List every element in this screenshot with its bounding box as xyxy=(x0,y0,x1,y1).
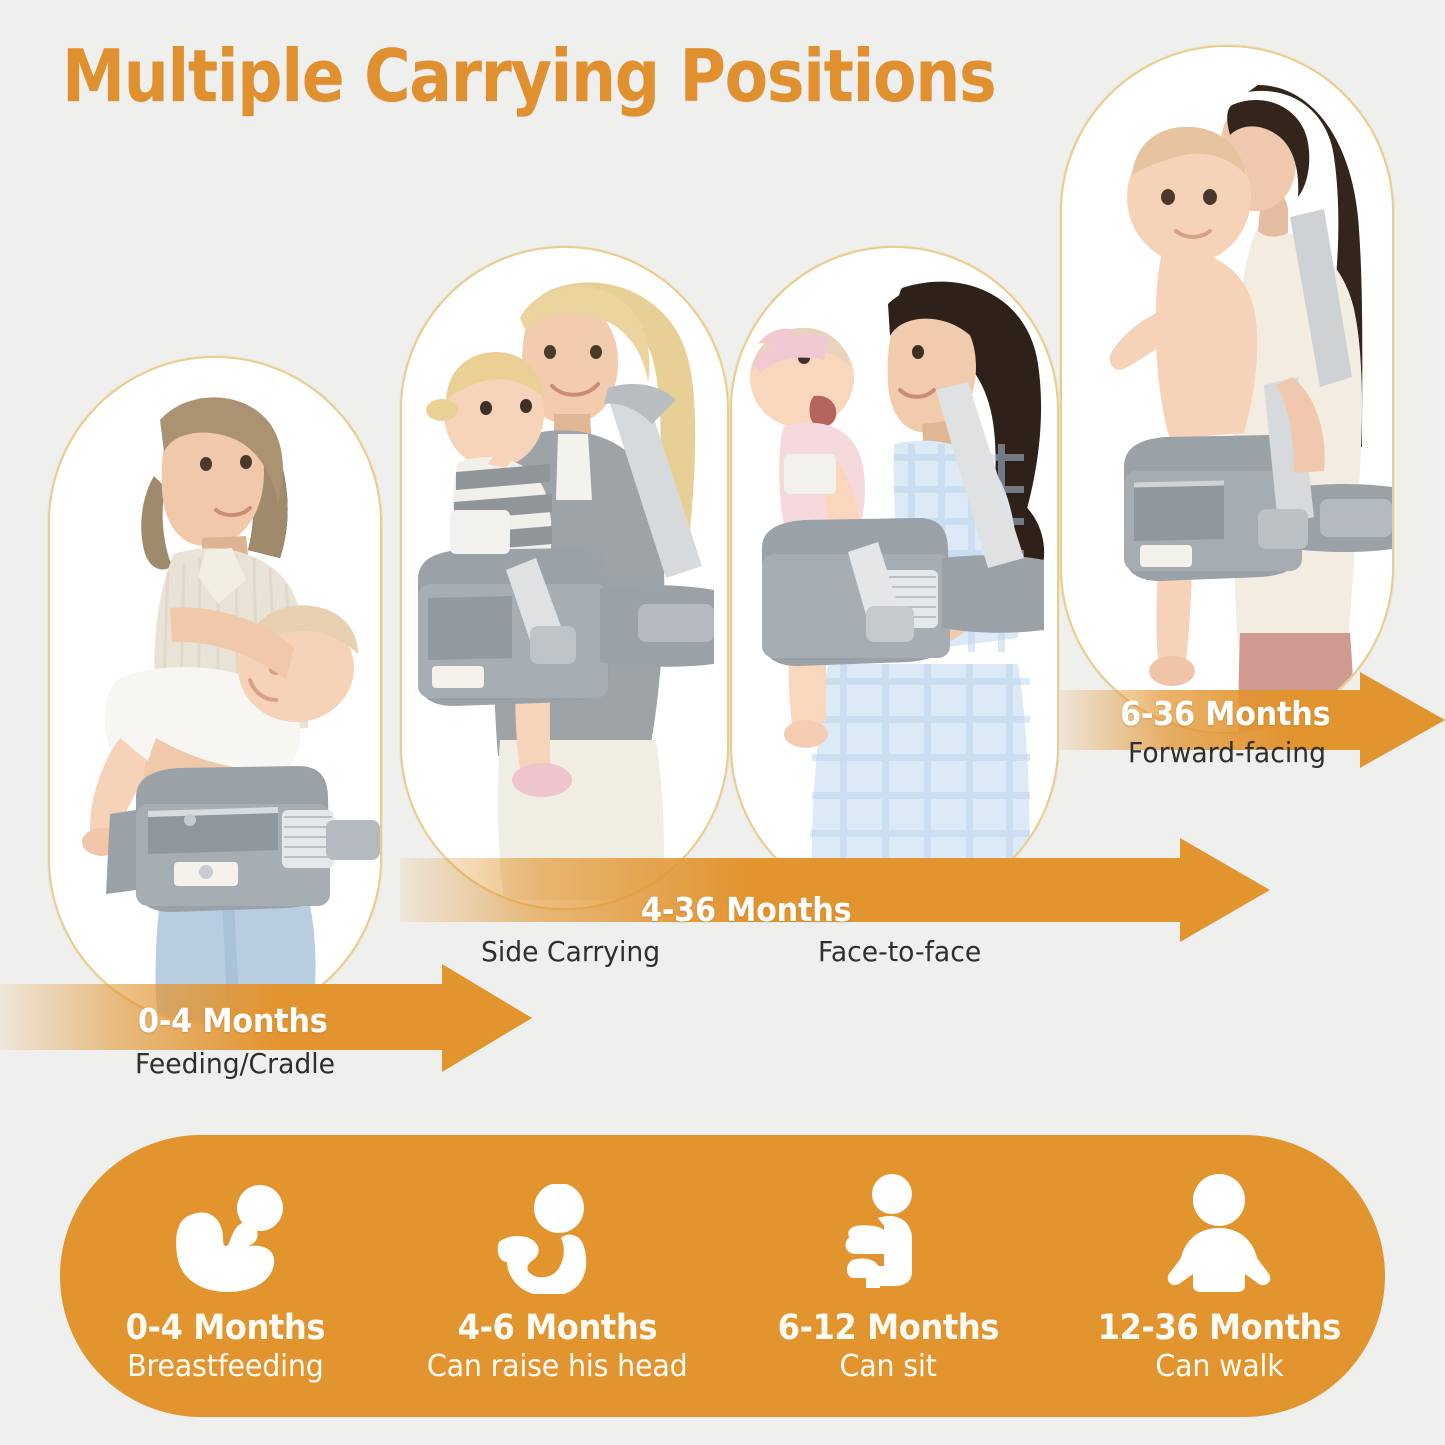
photo-side-carrying xyxy=(402,248,727,908)
arrow-6-36-months-age: 6-36 Months xyxy=(1120,694,1330,733)
milestone-item-6-12-months: 6-12 Months Can sit xyxy=(723,1170,1054,1382)
milestone-age: 12-36 Months xyxy=(1098,1310,1341,1347)
arrow-0-4-months-sub: Feeding/Cradle xyxy=(135,1047,335,1080)
milestone-desc: Can walk xyxy=(1155,1351,1283,1383)
baby-lying-icon xyxy=(160,1176,292,1294)
photo-feeding-cradle xyxy=(50,358,380,1023)
milestone-desc: Breastfeeding xyxy=(127,1351,323,1383)
milestone-item-0-4-months: 0-4 Months Breastfeeding xyxy=(60,1170,391,1382)
photo-face-to-face xyxy=(732,248,1057,908)
milestone-age: 4-6 Months xyxy=(457,1310,656,1347)
baby-sitting-icon xyxy=(822,1176,954,1294)
panel-face-to-face xyxy=(730,246,1059,910)
arrow-4-36-months-sub-right: Face-to-face xyxy=(818,935,981,968)
arrow-0-4-months-age: 0-4 Months xyxy=(138,1001,328,1040)
page-title: Multiple Carrying Positions xyxy=(62,34,995,118)
baby-standing-icon xyxy=(1153,1176,1285,1294)
arrow-4-36-months-age: 4-36 Months xyxy=(641,890,851,929)
milestone-list: 0-4 Months Breastfeeding 4-6 Months Can … xyxy=(60,1135,1385,1417)
panel-forward-facing xyxy=(1060,45,1394,734)
milestone-banner: 0-4 Months Breastfeeding 4-6 Months Can … xyxy=(60,1135,1385,1417)
photo-forward-facing xyxy=(1062,47,1392,732)
milestone-desc: Can sit xyxy=(840,1351,937,1383)
milestone-item-12-36-months: 12-36 Months Can walk xyxy=(1054,1170,1385,1382)
milestone-age: 0-4 Months xyxy=(126,1310,325,1347)
milestone-item-4-6-months: 4-6 Months Can raise his head xyxy=(391,1170,722,1382)
panel-side-carrying xyxy=(400,246,729,910)
baby-raise-head-icon xyxy=(491,1176,623,1294)
panel-feeding-cradle xyxy=(48,356,382,1025)
infographic-root: Multiple Carrying Positions xyxy=(0,0,1445,1445)
milestone-desc: Can raise his head xyxy=(427,1351,688,1383)
milestone-age: 6-12 Months xyxy=(777,1310,998,1347)
arrow-6-36-months-sub: Forward-facing xyxy=(1128,736,1326,769)
